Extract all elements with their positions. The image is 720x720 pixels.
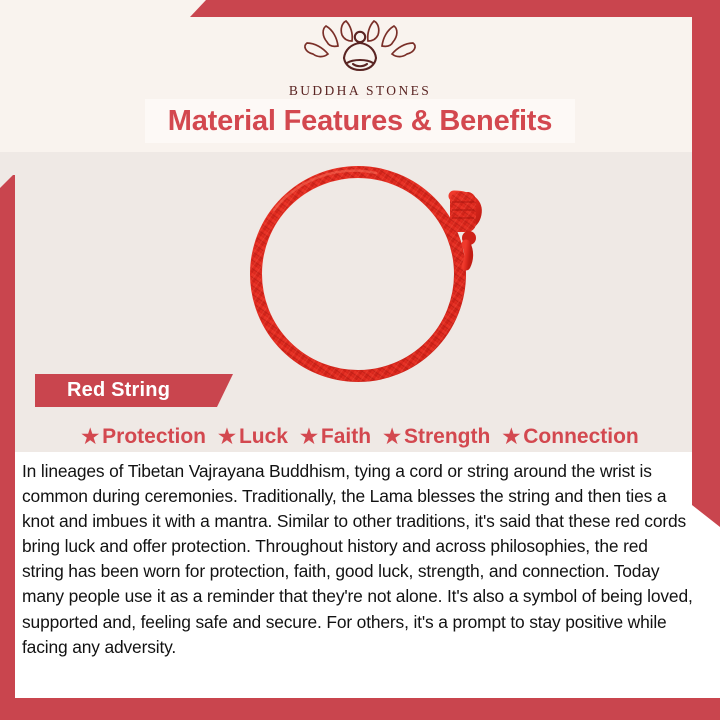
star-icon: ★ [502,427,520,447]
decorative-bar-bottom [0,698,720,720]
brand-name: BUDDHA STONES [289,83,431,99]
product-image [226,152,506,392]
page-title: Material Features & Benefits [168,105,552,138]
star-icon: ★ [218,427,236,447]
feature-label: Faith [321,425,371,449]
description-text: In lineages of Tibetan Vajrayana Buddhis… [22,459,694,660]
feature-list: ★ Protection ★ Luck ★ Faith ★ Strength ★… [14,420,706,454]
feature-label: Connection [523,425,639,449]
feature-label: Strength [404,425,490,449]
page-title-banner: Material Features & Benefits [145,99,575,143]
star-icon: ★ [300,427,318,447]
decorative-bar-left [0,175,15,720]
star-icon: ★ [383,427,401,447]
star-icon: ★ [81,427,99,447]
feature-item-luck: ★ Luck [218,425,288,449]
feature-label: Protection [102,425,206,449]
lotus-meditation-icon [301,18,419,78]
feature-item-protection: ★ Protection [81,425,206,449]
product-label: Red String [67,379,170,402]
feature-item-connection: ★ Connection [502,425,638,449]
feature-label: Luck [239,425,288,449]
decorative-bar-top [190,0,720,17]
brand-logo: BUDDHA STONES [0,18,720,99]
feature-item-faith: ★ Faith [300,425,371,449]
product-label-banner: Red String [35,374,233,407]
feature-item-strength: ★ Strength [383,425,490,449]
